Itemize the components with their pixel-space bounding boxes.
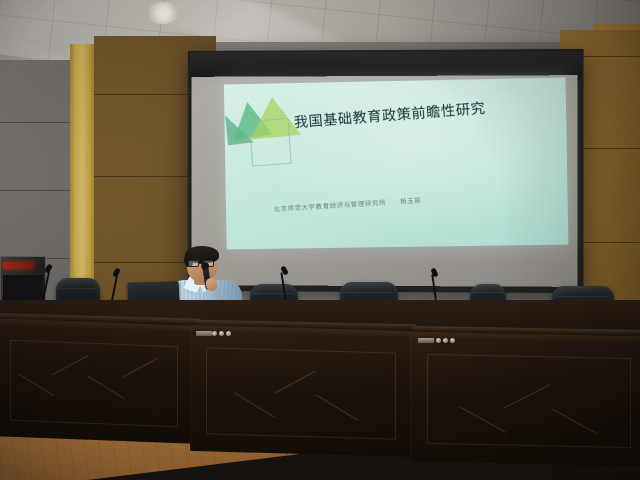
panel-inner-border xyxy=(427,354,632,448)
outline-rectangle-icon xyxy=(249,118,292,166)
led-readout xyxy=(3,262,33,269)
downlight-icon xyxy=(146,2,180,24)
projected-slide: 我国基础教育政策前瞻性研究 北京师范大学教育经济与管理研究所杨玉丽 xyxy=(224,77,569,249)
panel-knobs xyxy=(212,331,231,336)
panel-plaque xyxy=(418,338,434,343)
table-front-panel xyxy=(190,325,412,457)
table-front-panel xyxy=(0,318,192,444)
photo-scene: 我国基础教育政策前瞻性研究 北京师范大学教育经济与管理研究所杨玉丽 xyxy=(0,0,640,480)
table-front-panel xyxy=(410,332,640,467)
panel-knobs xyxy=(436,338,455,343)
slide-author: 杨玉丽 xyxy=(400,196,422,205)
panel-plaque xyxy=(196,331,212,336)
rack-faceplate xyxy=(3,275,43,303)
